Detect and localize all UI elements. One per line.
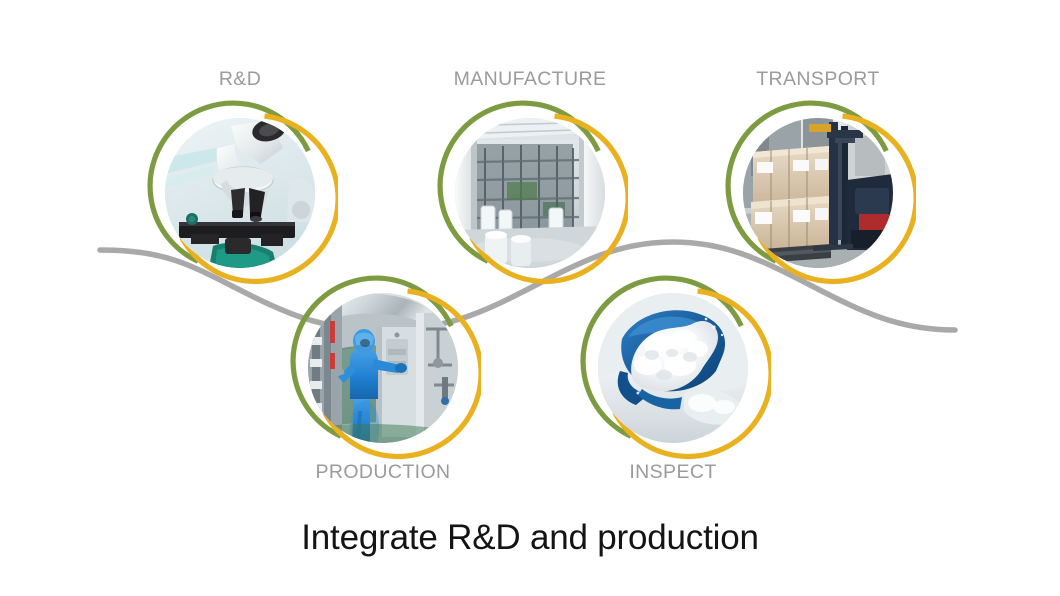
forklift-pallet-cartons-photo: [743, 118, 893, 268]
node-image-inspect: [598, 293, 748, 443]
node-image-manufacture: [455, 118, 605, 268]
node-image-transport: [743, 118, 893, 268]
page-title: Integrate R&D and production: [0, 518, 1060, 558]
node-label-inspect: INSPECT: [575, 461, 771, 484]
node-manufacture[interactable]: [432, 95, 628, 291]
node-label-production: PRODUCTION: [285, 461, 481, 484]
microscope-laboratory-photo: [165, 118, 315, 268]
node-label-manufacture: MANUFACTURE: [432, 68, 628, 91]
infographic-canvas: R&D: [0, 0, 1060, 596]
white-powder-blue-scoop-photo: [598, 293, 748, 443]
node-image-production: [308, 293, 458, 443]
factory-production-line-photo: [455, 118, 605, 268]
node-label-rnd: R&D: [142, 68, 338, 91]
node-label-transport: TRANSPORT: [720, 68, 916, 91]
node-image-rnd: [165, 118, 315, 268]
node-rnd[interactable]: [142, 95, 338, 291]
node-inspect[interactable]: [575, 270, 771, 466]
node-production[interactable]: [285, 270, 481, 466]
node-transport[interactable]: [720, 95, 916, 291]
worker-blue-suit-equipment-photo: [308, 293, 458, 443]
